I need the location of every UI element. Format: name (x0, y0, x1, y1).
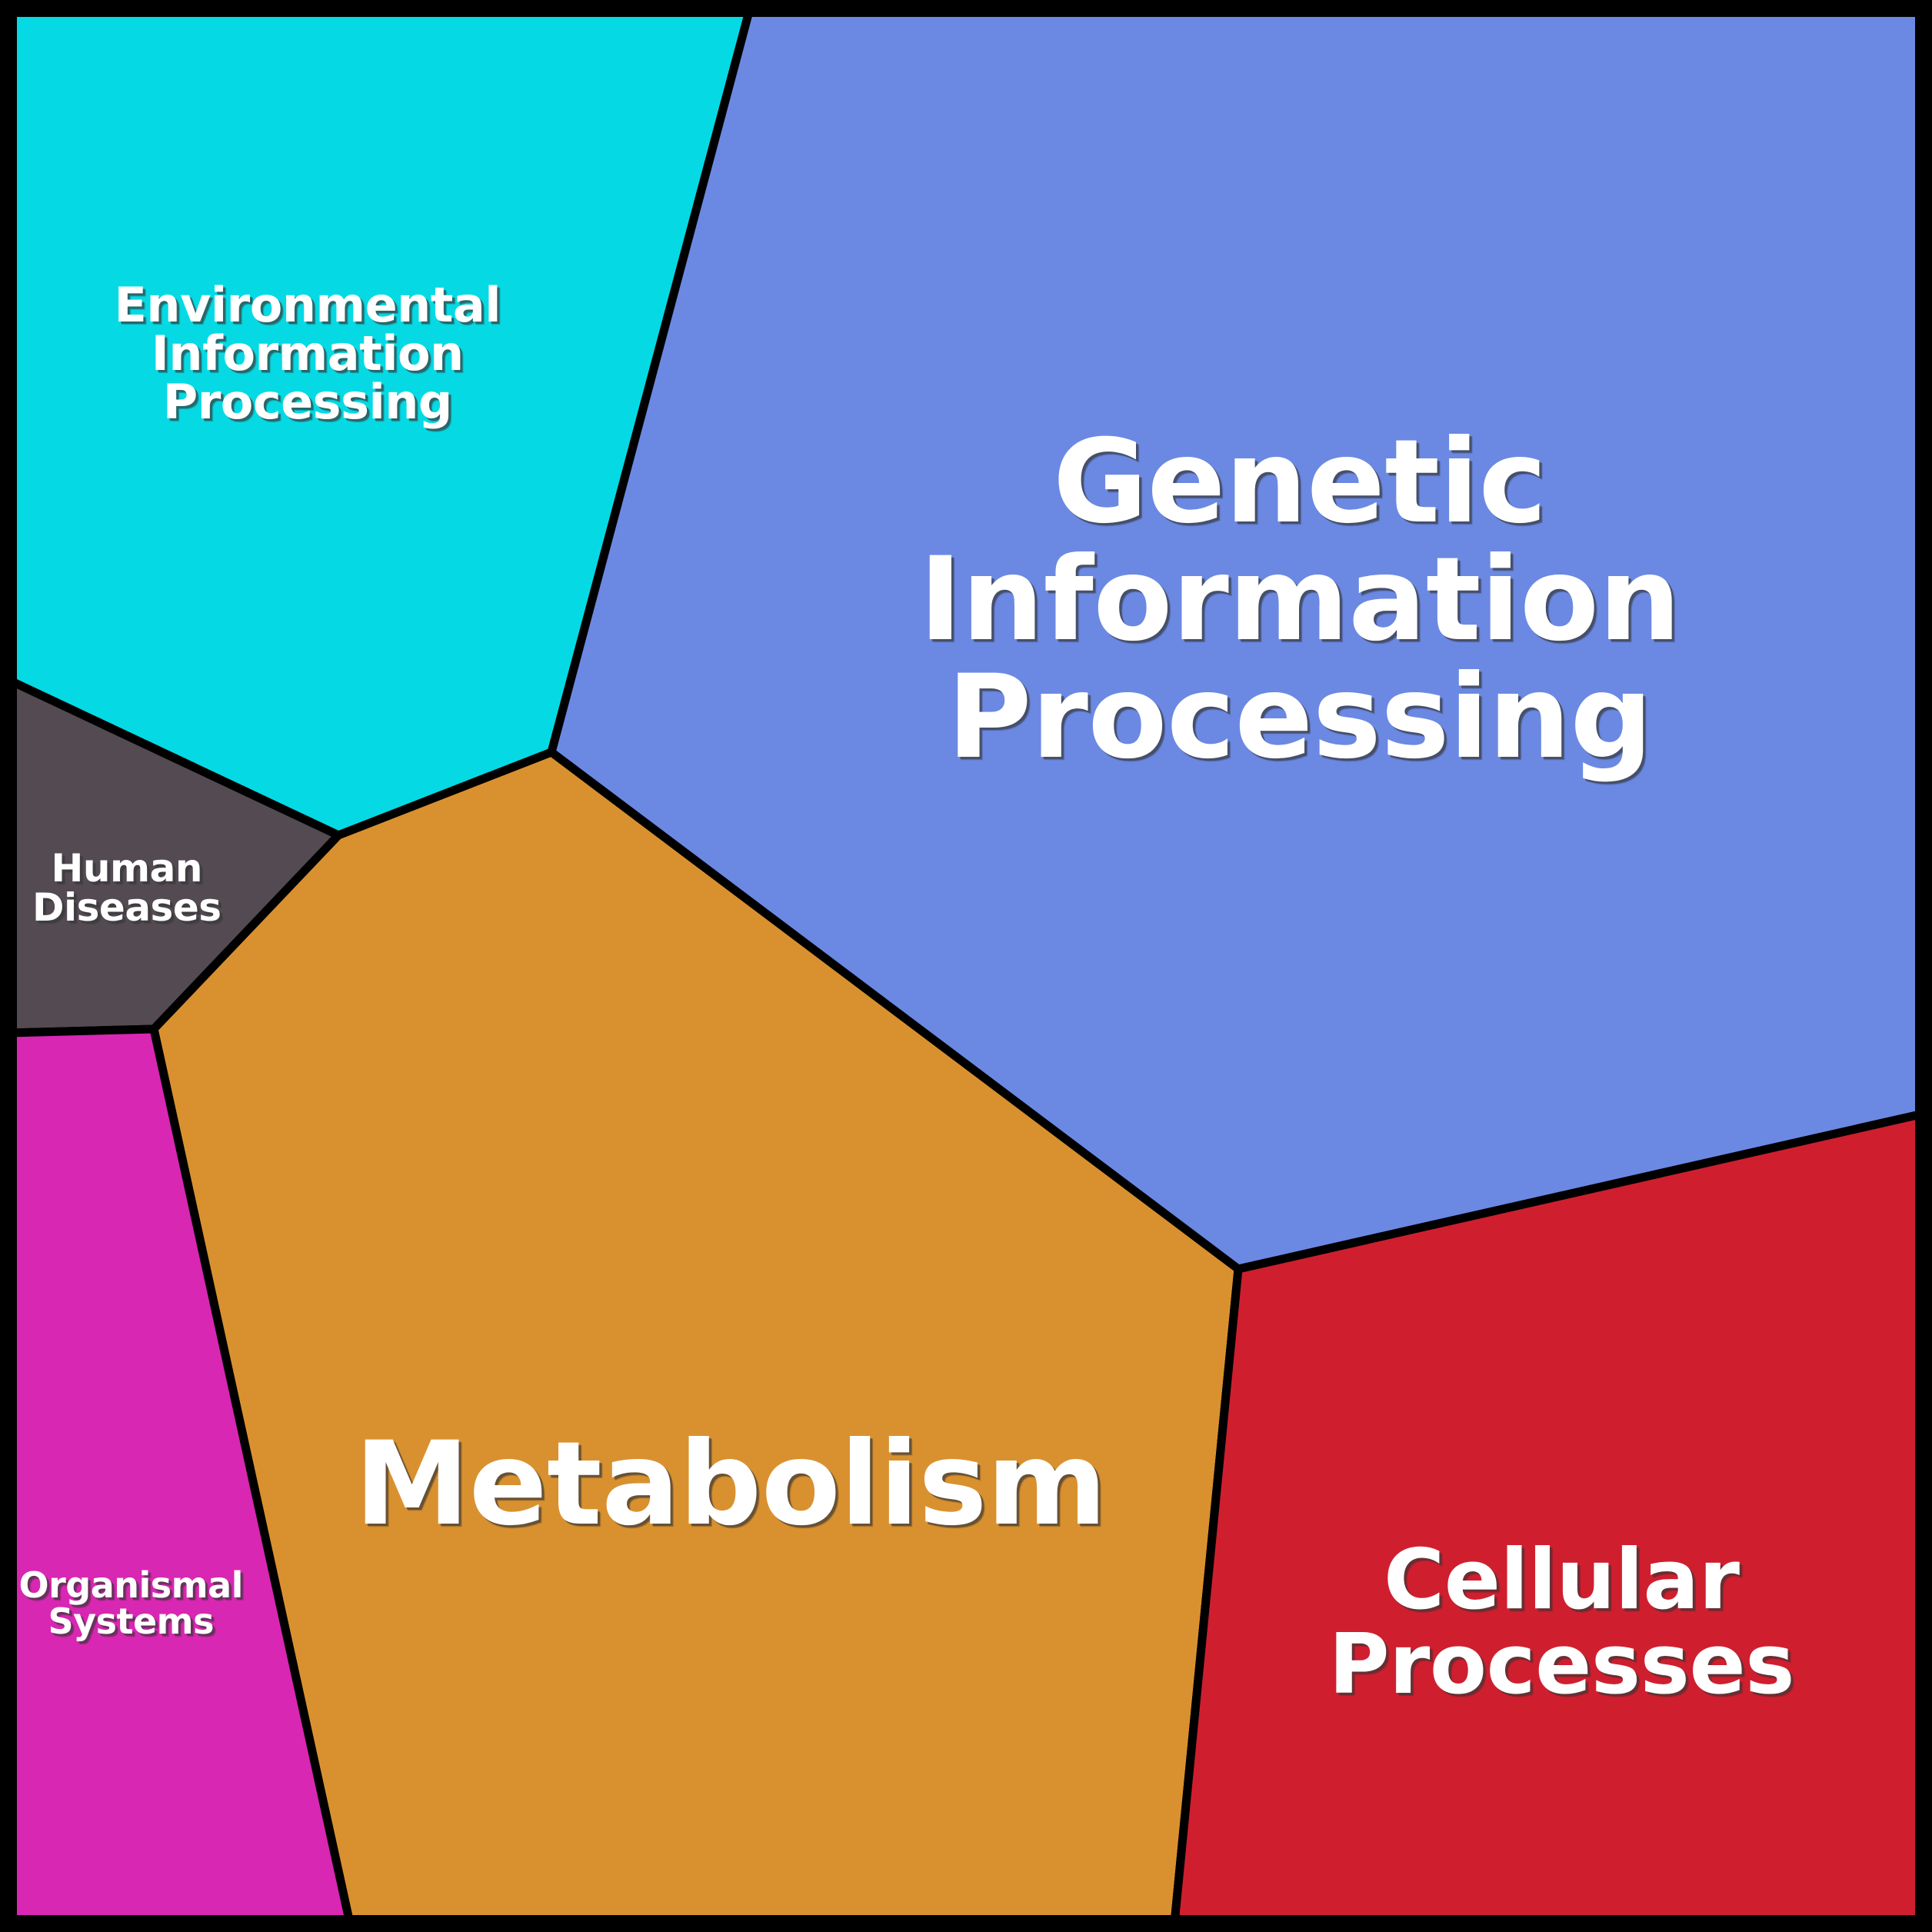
voronoi-cells-group (8, 8, 1924, 1924)
voronoi-canvas (0, 0, 1932, 1932)
voronoi-treemap-figure: EnvironmentalInformationProcessingGeneti… (0, 0, 1932, 1932)
